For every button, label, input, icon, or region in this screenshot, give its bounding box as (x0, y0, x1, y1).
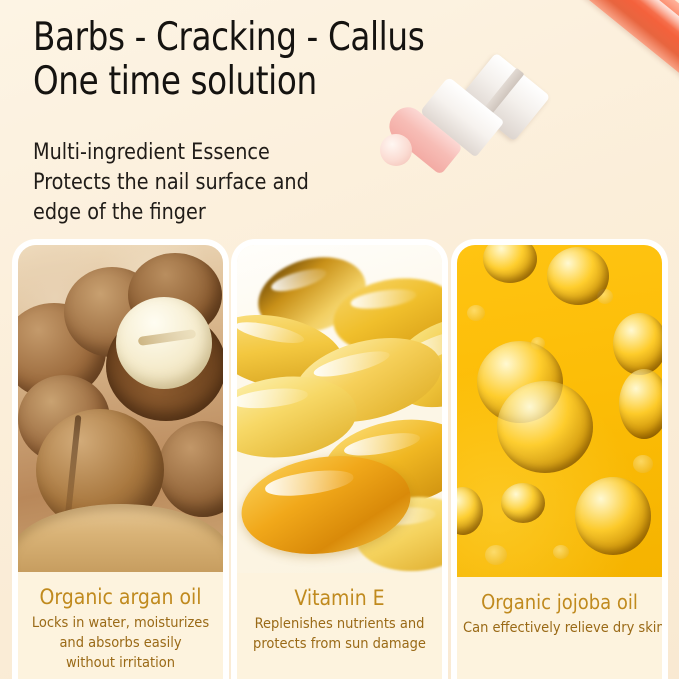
ingredient-cards-row: Organic argan oil Locks in water, moistu… (0, 245, 679, 679)
vitamin-e-caption: Vitamin E Replenishes nutrients and prot… (237, 573, 442, 679)
softgel-capsules-illustration (237, 245, 442, 573)
argan-photo (18, 245, 223, 572)
pen-tip-end (380, 134, 412, 166)
pen-label-text (559, 0, 679, 124)
nut-kernel (116, 297, 212, 389)
subtitle-line-3: edge of the finger (33, 197, 432, 227)
oil-bubbles-illustration (457, 245, 662, 577)
jojoba-caption: Organic jojoba oil Can effectively relie… (457, 577, 662, 679)
applicator-pen-image (378, 0, 679, 244)
jojoba-photo (457, 245, 662, 577)
jojoba-body: Can effectively relieve dry skin (463, 618, 656, 638)
argan-title: Organic argan oil (24, 584, 217, 610)
argan-caption: Organic argan oil Locks in water, moistu… (18, 572, 223, 679)
subtitle-block: Multi-ingredient Essence Protects the na… (33, 137, 432, 227)
macadamia-nuts-illustration (18, 245, 223, 572)
argan-body: Locks in water, moisturizes and absorbs … (24, 613, 217, 673)
vitamin-e-body: Replenishes nutrients and protects from … (243, 614, 436, 654)
subtitle-line-2: Protects the nail surface and (33, 167, 432, 197)
header-section: Barbs - Cracking - Callus One time solut… (0, 0, 679, 245)
vitamin-e-title: Vitamin E (243, 585, 436, 611)
product-marketing-banner: Barbs - Cracking - Callus One time solut… (0, 0, 679, 679)
ingredient-card-vitamin-e: Vitamin E Replenishes nutrients and prot… (237, 245, 442, 679)
ingredient-card-argan: Organic argan oil Locks in water, moistu… (18, 245, 223, 679)
jojoba-title: Organic jojoba oil (463, 589, 656, 615)
ingredient-card-jojoba: Organic jojoba oil Can effectively relie… (457, 245, 662, 679)
subtitle-line-1: Multi-ingredient Essence (33, 137, 432, 167)
vitamin-e-photo (237, 245, 442, 573)
